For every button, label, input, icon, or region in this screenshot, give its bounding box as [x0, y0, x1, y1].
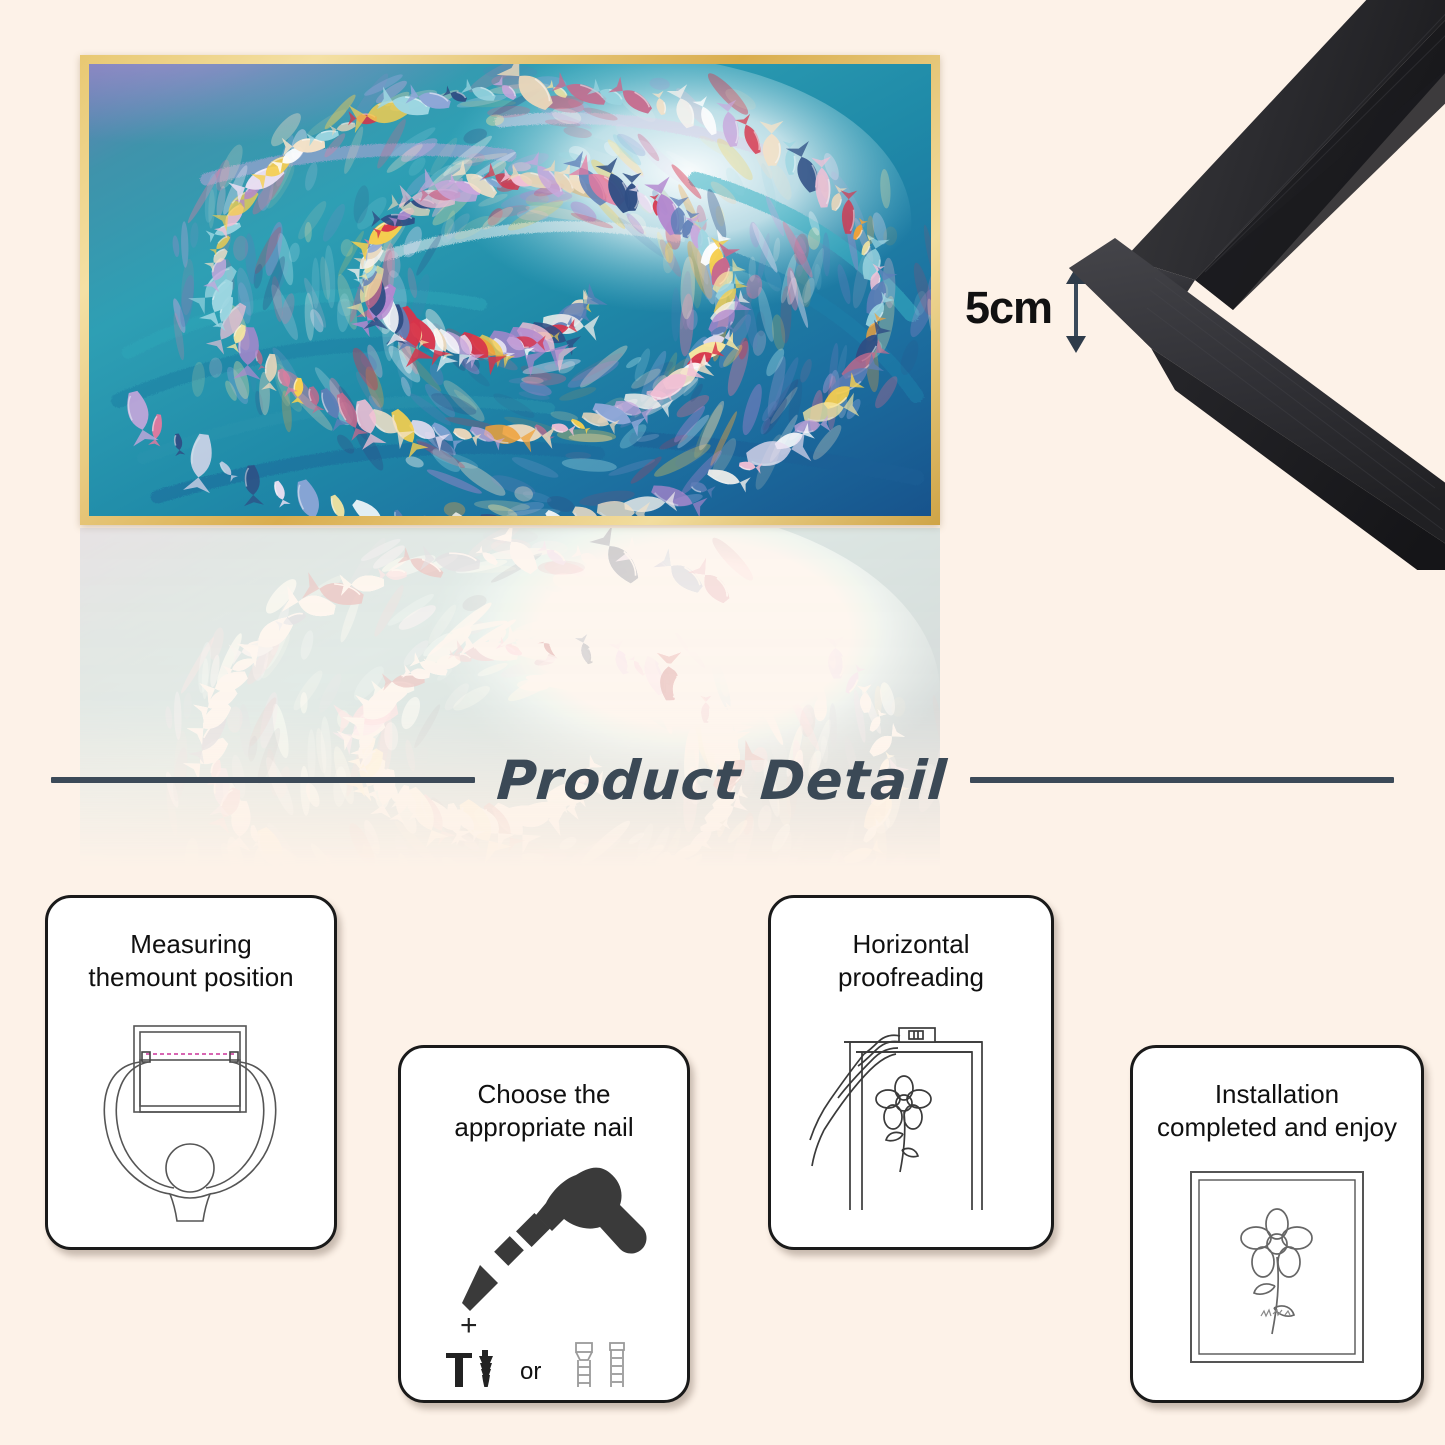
artwork-canvas [89, 64, 931, 516]
hammer-nails-icon: + or [424, 1157, 664, 1387]
step-card-art [1133, 1144, 1421, 1401]
thickness-label: 5cm [965, 282, 1052, 334]
step-card-horizontal-proofreading[interactable]: Horizontal proofreading [768, 895, 1054, 1250]
framed-artwork [80, 55, 940, 525]
step-card-art [771, 994, 1051, 1248]
section-header: Product Detail [0, 740, 1445, 820]
step-card-installation-complete[interactable]: Installation completed and enjoy [1130, 1045, 1424, 1403]
step-card-title: Horizontal proofreading [826, 928, 996, 994]
step-card-art: + or [401, 1144, 687, 1401]
step-card-title: Measuring themount position [76, 928, 305, 994]
step-card-choose-nail[interactable]: Choose the appropriate nail + [398, 1045, 690, 1403]
black-frame-corner-icon [1055, 0, 1445, 570]
person-holding-frame-icon [84, 1018, 299, 1223]
hung-framed-flower-icon [1177, 1164, 1377, 1379]
product-detail-page: 5cm [0, 0, 1445, 1445]
step-card-title: Choose the appropriate nail [442, 1078, 645, 1144]
plus-sign: + [460, 1309, 478, 1342]
or-separator: or [520, 1358, 541, 1385]
step-card-title: Installation completed and enjoy [1145, 1078, 1409, 1144]
painting-artwork [89, 64, 931, 516]
divider-right [970, 777, 1394, 783]
step-card-art [48, 994, 334, 1248]
hand-spirit-level-frame-icon [804, 1020, 1019, 1220]
divider-left [51, 777, 475, 783]
step-card-measuring[interactable]: Measuring themount position [45, 895, 337, 1250]
page-title: Product Detail [495, 749, 949, 812]
